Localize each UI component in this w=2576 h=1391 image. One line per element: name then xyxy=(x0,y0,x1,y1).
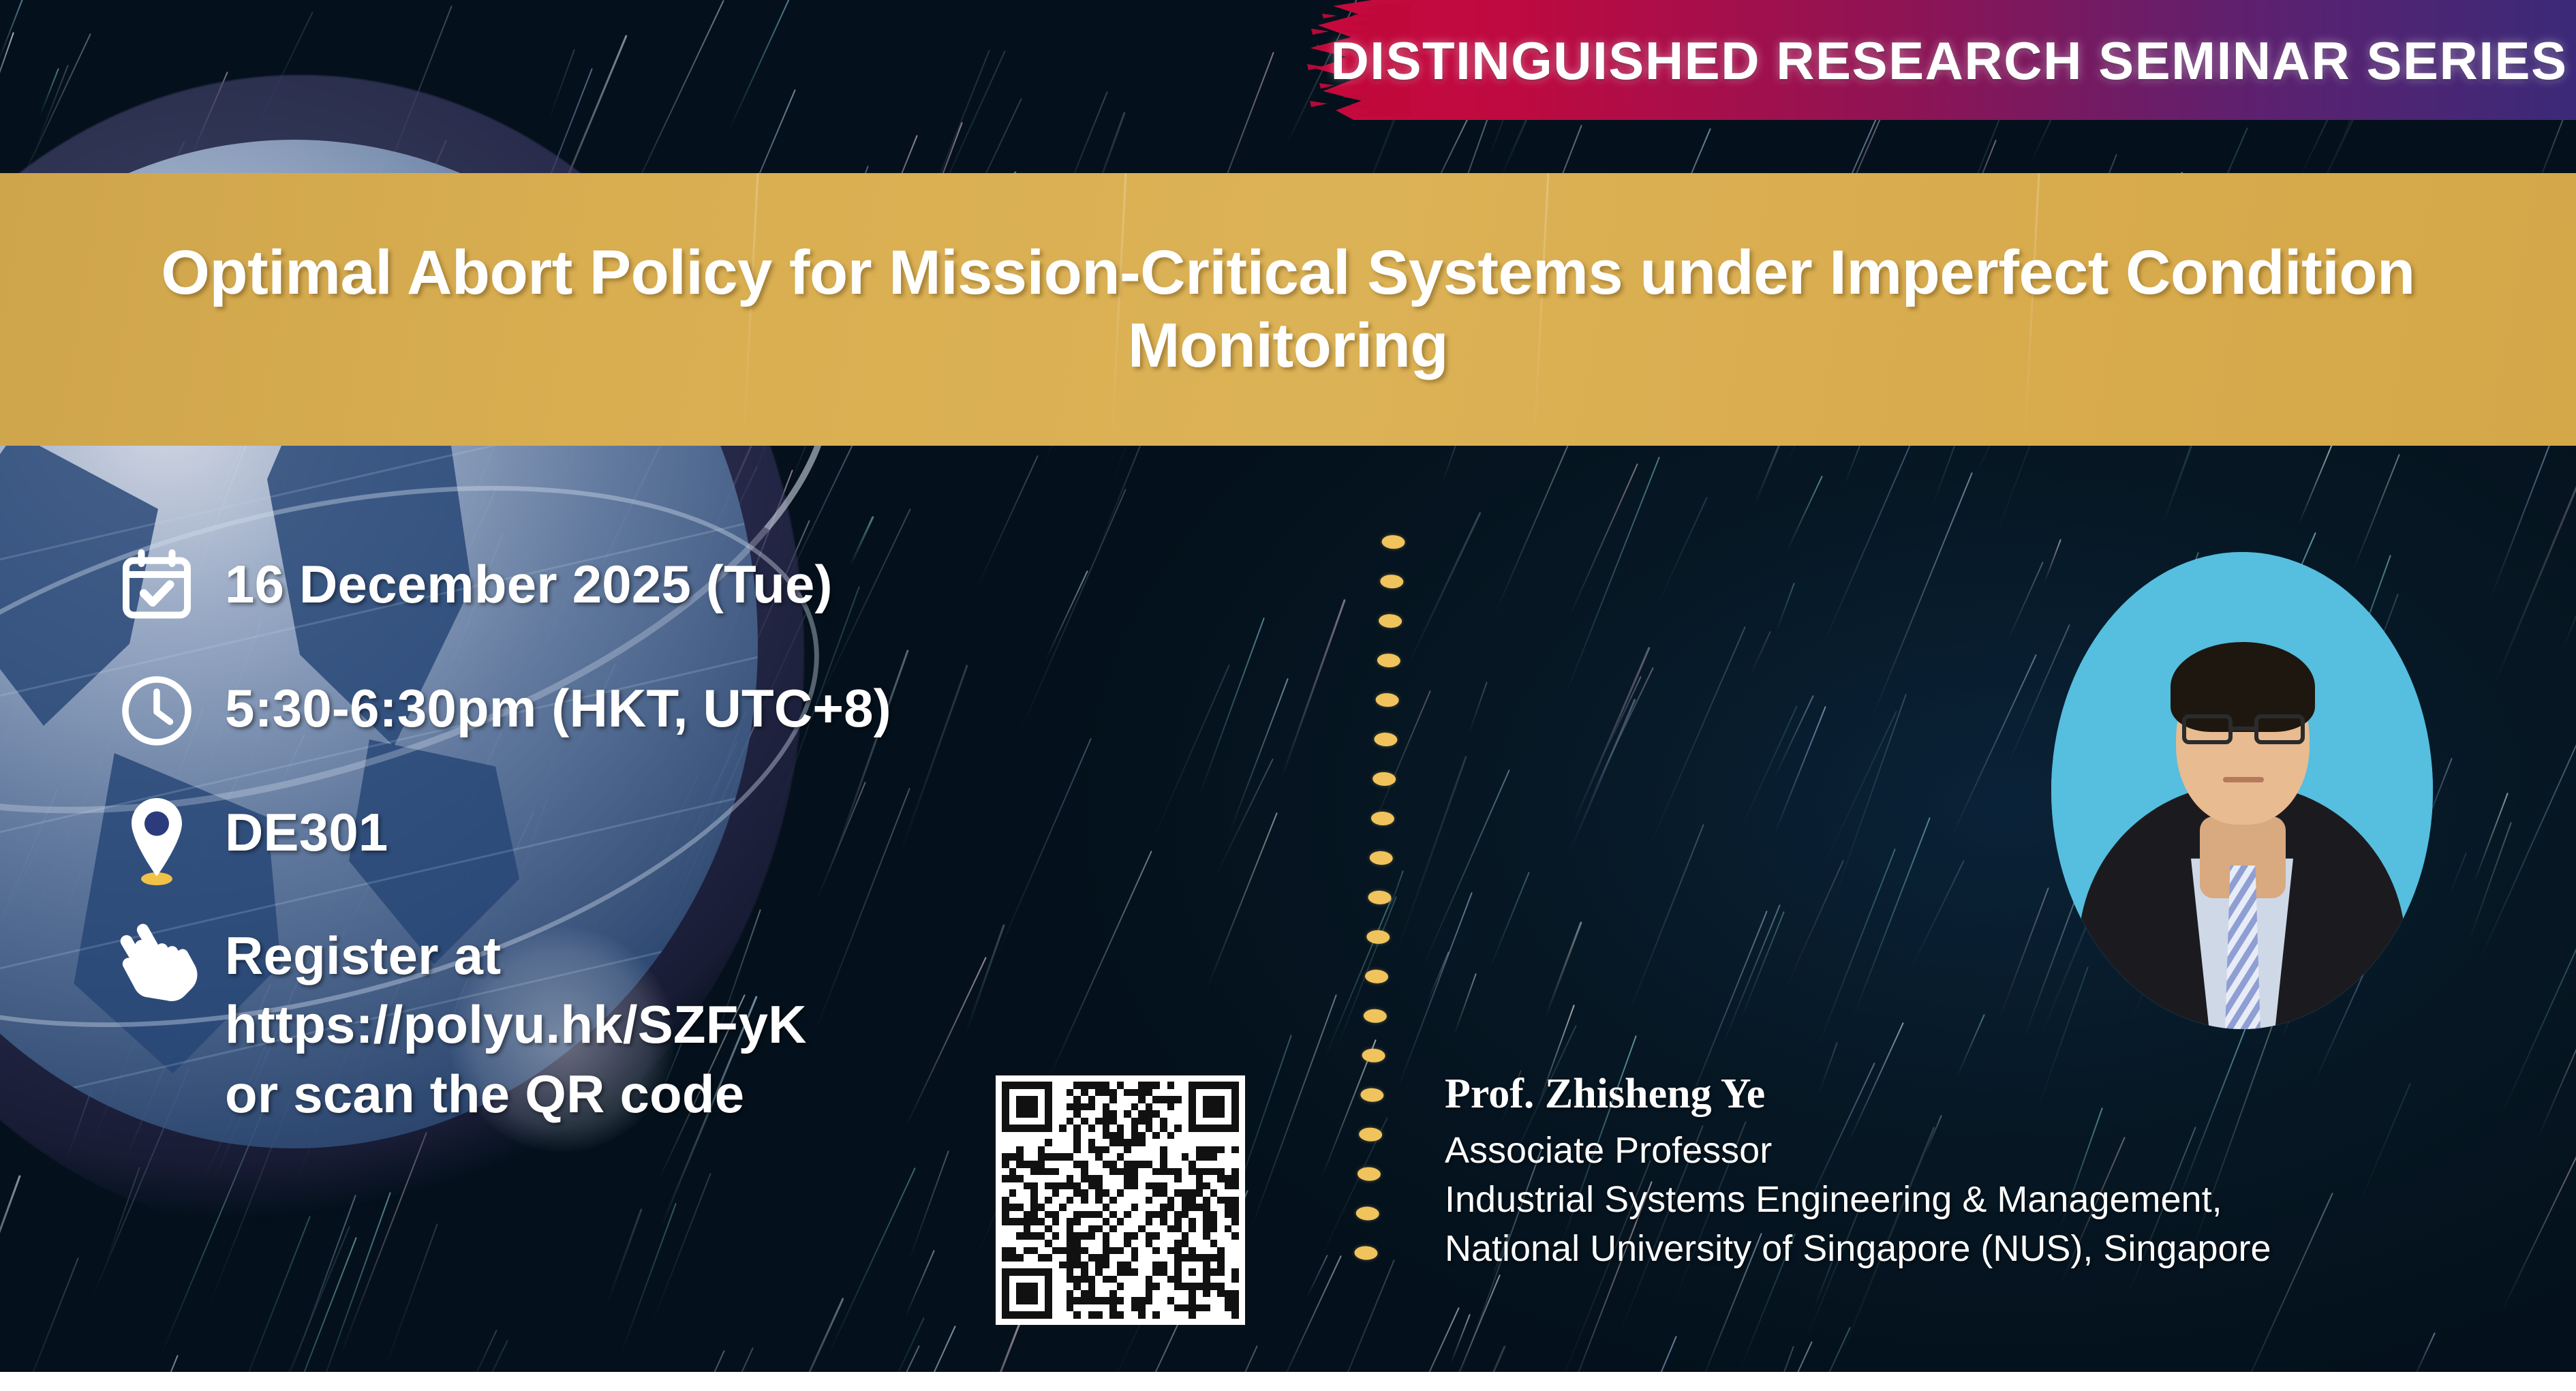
divider-dot xyxy=(1362,1048,1385,1063)
divider-dot xyxy=(1373,771,1396,786)
detail-text-date: 16 December 2025 (Tue) xyxy=(225,545,833,620)
speaker-department: Industrial Systems Engineering & Managem… xyxy=(1445,1176,2481,1225)
divider-dot xyxy=(1368,890,1392,904)
divider-dot xyxy=(1379,614,1402,628)
speaker-institution: National University of Singapore (NUS), … xyxy=(1445,1225,2481,1274)
divider-dot xyxy=(1363,1009,1387,1023)
divider-dot xyxy=(1375,692,1399,707)
series-banner-label: DISTINGUISHED RESEARCH SEMINAR SERIES xyxy=(1349,10,2549,112)
clock-icon xyxy=(116,669,225,751)
divider-dot xyxy=(1380,575,1404,589)
divider-dot xyxy=(1374,732,1398,746)
divider-dot xyxy=(1355,1206,1379,1221)
register-line-1: Register at xyxy=(225,926,501,985)
event-details-list: 16 December 2025 (Tue) 5:30-6:30pm (HKT,… xyxy=(116,545,1138,1171)
divider-dot xyxy=(1354,1246,1378,1260)
detail-row-time: 5:30-6:30pm (HKT, UTC+8) xyxy=(116,669,1138,751)
divider-dot xyxy=(1365,969,1389,983)
register-url[interactable]: https://polyu.hk/SZFyK xyxy=(225,994,807,1054)
divider-dot xyxy=(1366,930,1390,944)
bottom-white-strip xyxy=(0,1372,2576,1391)
speaker-rank: Associate Professor xyxy=(1445,1127,2481,1176)
seminar-title-line2: Monitoring xyxy=(1128,311,1448,380)
divider-dot xyxy=(1371,811,1395,825)
title-band: Optimal Abort Policy for Mission-Critica… xyxy=(0,173,2576,446)
detail-row-venue: DE301 xyxy=(116,793,1138,875)
speaker-name: Prof. Zhisheng Ye xyxy=(1445,1070,2481,1118)
divider-dot xyxy=(1377,654,1400,668)
detail-row-date: 16 December 2025 (Tue) xyxy=(116,545,1138,627)
pointing-hand-icon xyxy=(116,917,225,999)
divider-dot xyxy=(1360,1088,1384,1102)
divider-dot xyxy=(1381,535,1405,549)
divider-dot xyxy=(1358,1167,1381,1181)
speaker-portrait xyxy=(2051,552,2433,1029)
speaker-info: Prof. Zhisheng Ye Associate Professor In… xyxy=(1445,1070,2481,1273)
divider-dot xyxy=(1359,1127,1383,1142)
seminar-title: Optimal Abort Policy for Mission-Critica… xyxy=(55,236,2521,382)
calendar-check-icon xyxy=(116,545,225,627)
register-line-3: or scan the QR code xyxy=(225,1064,744,1124)
detail-row-register[interactable]: Register at https://polyu.hk/SZFyK or sc… xyxy=(116,917,1138,1129)
divider-dot xyxy=(1369,851,1393,865)
registration-qr-code[interactable] xyxy=(996,1075,1245,1325)
detail-text-register: Register at https://polyu.hk/SZFyK or sc… xyxy=(225,917,807,1129)
location-pin-icon xyxy=(116,793,225,875)
seminar-poster: DISTINGUISHED RESEARCH SEMINAR SERIES Op… xyxy=(0,0,2576,1391)
detail-text-venue: DE301 xyxy=(225,793,388,868)
seminar-title-line1: Optimal Abort Policy for Mission-Critica… xyxy=(161,238,2414,307)
detail-text-time: 5:30-6:30pm (HKT, UTC+8) xyxy=(225,669,891,744)
